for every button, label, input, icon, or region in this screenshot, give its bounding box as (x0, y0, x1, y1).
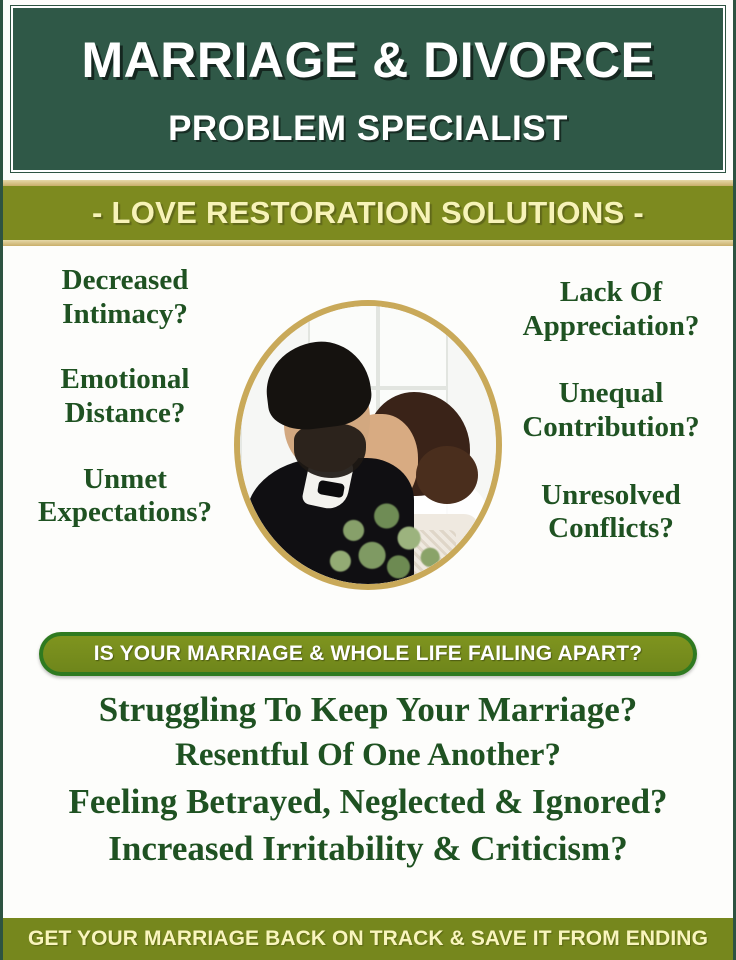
pill-inner-fill: IS YOUR MARRIAGE & WHOLE LIFE FAILING AP… (43, 636, 693, 672)
header-banner: MARRIAGE & DIVORCE PROBLEM SPECIALIST (11, 6, 725, 172)
prompt-line: Intimacy? (62, 298, 188, 330)
window-pane (378, 306, 448, 388)
question-resentful: Resentful Of One Another? (3, 737, 733, 774)
page-subtitle: PROBLEM SPECIALIST (168, 111, 568, 146)
prompt-decreased-intimacy: Decreased Intimacy? (9, 264, 241, 331)
failing-apart-pill[interactable]: IS YOUR MARRIAGE & WHOLE LIFE FAILING AP… (39, 632, 697, 676)
subtitle-band-text: - LOVE RESTORATION SOLUTIONS - (92, 195, 644, 231)
prompt-line: Conflicts? (548, 512, 674, 544)
prompt-lack-of-appreciation: Lack Of Appreciation? (495, 276, 727, 343)
poster-root: MARRIAGE & DIVORCE PROBLEM SPECIALIST - … (0, 0, 736, 960)
prompt-unresolved-conflicts: Unresolved Conflicts? (495, 479, 727, 546)
prompts-right-column: Lack Of Appreciation? Unequal Contributi… (495, 252, 727, 546)
prompt-line: Unresolved (541, 479, 681, 511)
question-betrayed: Feeling Betrayed, Neglected & Ignored? (3, 782, 733, 821)
bouquet (314, 492, 446, 584)
couple-photo-inner (240, 306, 496, 584)
prompt-line: Lack Of (560, 276, 662, 308)
band-olive-fill: - LOVE RESTORATION SOLUTIONS - (3, 186, 733, 240)
prompt-unmet-expectations: Unmet Expectations? (9, 463, 241, 530)
prompt-line: Unmet (83, 463, 167, 495)
prompt-line: Expectations? (38, 496, 212, 528)
questions-list: Struggling To Keep Your Marriage? Resent… (3, 690, 733, 877)
band-gold-accent-bottom (3, 240, 733, 246)
pill-label: IS YOUR MARRIAGE & WHOLE LIFE FAILING AP… (94, 642, 643, 666)
prompt-line: Contribution? (522, 411, 699, 443)
problem-prompts-section: Decreased Intimacy? Emotional Distance? … (3, 252, 733, 626)
subtitle-band: - LOVE RESTORATION SOLUTIONS - (3, 180, 733, 246)
prompt-line: Appreciation? (523, 310, 700, 342)
prompt-emotional-distance: Emotional Distance? (9, 363, 241, 430)
question-struggling: Struggling To Keep Your Marriage? (3, 690, 733, 729)
bottom-cta-text: GET YOUR MARRIAGE BACK ON TRACK & SAVE I… (28, 927, 708, 951)
couple-photo (234, 300, 502, 590)
prompt-line: Distance? (65, 397, 186, 429)
page-title: MARRIAGE & DIVORCE (82, 35, 655, 85)
prompt-line: Emotional (61, 363, 190, 395)
prompt-line: Decreased (62, 264, 189, 296)
prompt-line: Unequal (559, 377, 664, 409)
question-irritability: Increased Irritability & Criticism? (3, 829, 733, 868)
prompts-left-column: Decreased Intimacy? Emotional Distance? … (9, 252, 241, 530)
prompt-unequal-contribution: Unequal Contribution? (495, 377, 727, 444)
bottom-cta-bar: GET YOUR MARRIAGE BACK ON TRACK & SAVE I… (3, 918, 733, 960)
